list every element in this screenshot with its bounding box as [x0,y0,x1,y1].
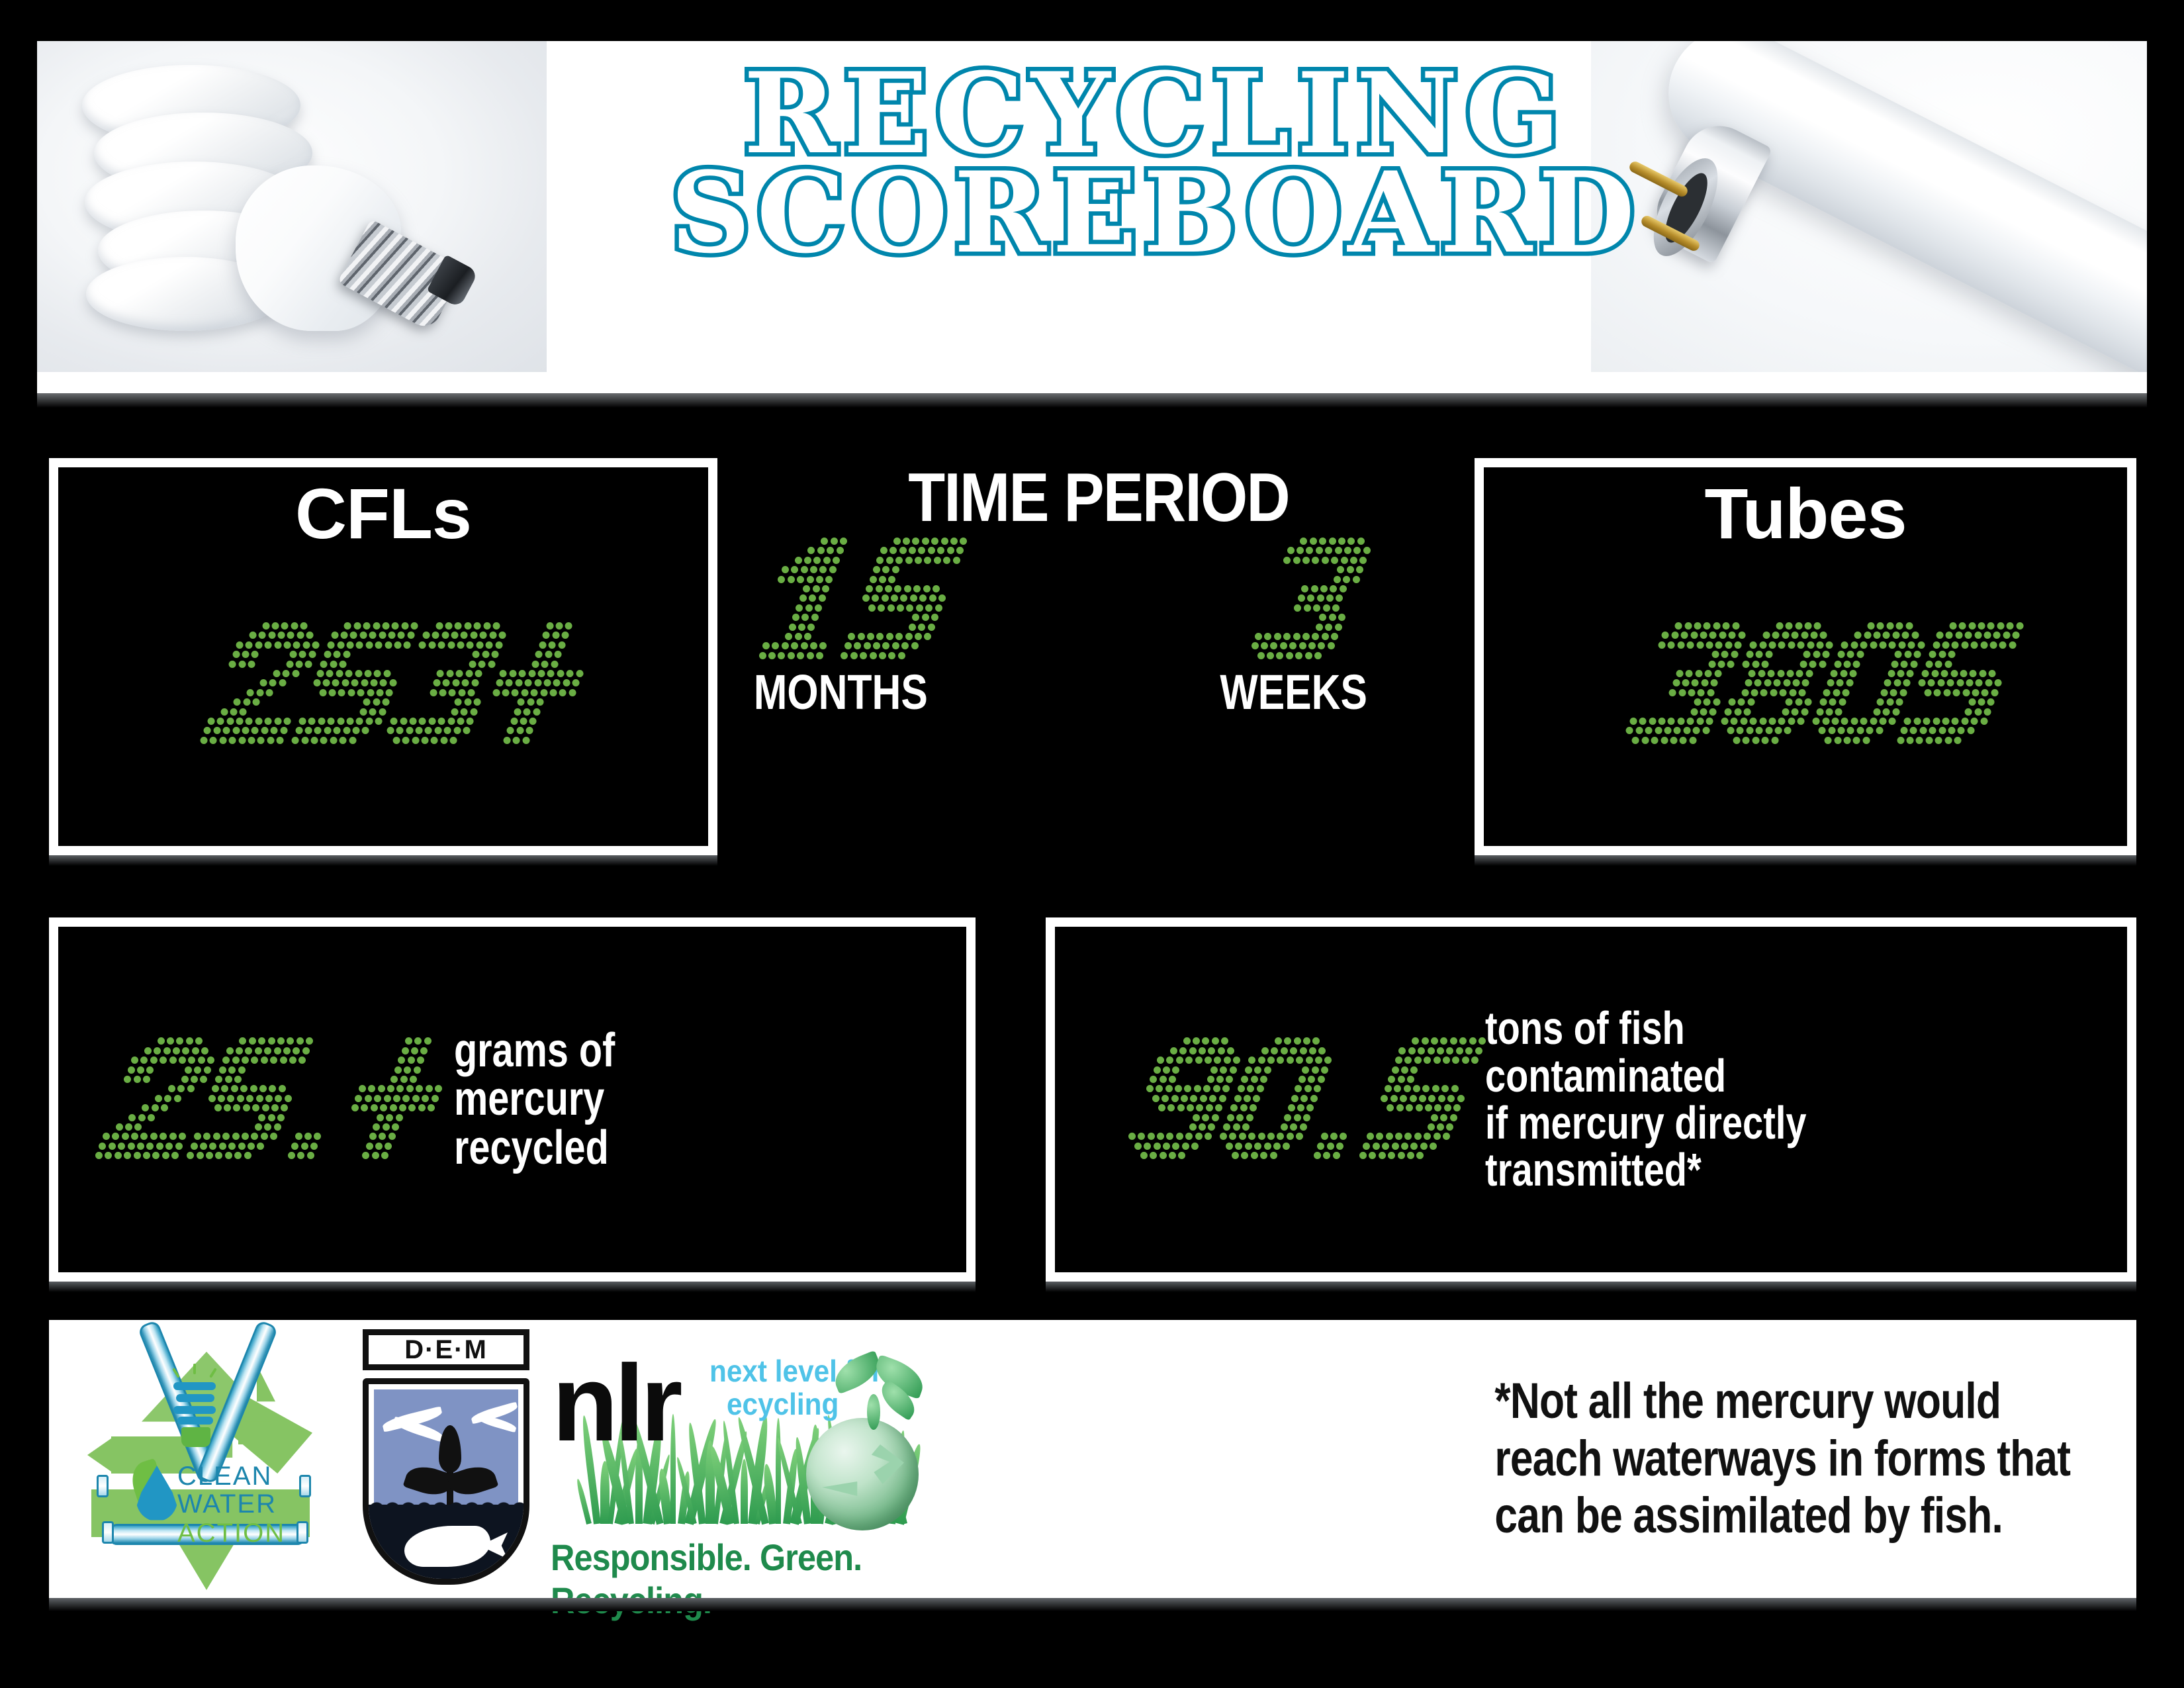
digit-5 [841,538,927,661]
sprout-icon [830,1356,929,1429]
panel-shadow [1475,855,2136,866]
dem-waterline [369,1495,523,1510]
digit-5 [1359,1037,1445,1161]
logo-row: CLEAN WATER ACTION D·E·M [68,1325,944,1590]
mercury-caption-line: mercury [454,1075,615,1123]
panel-tubes: Tubes [1475,458,2136,855]
dem-shield [363,1378,529,1585]
dem-banner-text: D·E·M [404,1335,488,1365]
panel-shadow [1046,1282,2136,1292]
footnote-text: *Not all the mercury would reach waterwa… [1494,1373,2081,1545]
digit-2 [201,622,287,746]
digit-3 [383,622,469,746]
mercury-caption: grams of mercury recycled [454,1027,615,1172]
fish-caption-line: transmitted* [1485,1147,1807,1194]
fish-caption: tons of fish contaminated if mercury dir… [1485,1005,1807,1194]
cwa-text-line: WATER [177,1489,277,1519]
digit-4 [334,1037,420,1161]
digit-3 [1248,538,1334,661]
digit-0 [1212,1037,1298,1161]
dem-banner: D·E·M [363,1329,529,1370]
panel-shadow [49,855,717,866]
fish-caption-line: if mercury directly [1485,1100,1807,1147]
panel-fish: tons of fish contaminated if mercury dir… [1046,917,2136,1282]
digit-8 [1714,622,1800,746]
months-value-display [749,538,932,661]
fish-caption-line: tons of fish [1485,1005,1807,1052]
nlr-logo: nlr next level for ecycling Responsible.… [547,1325,944,1590]
weeks-unit-label: WEEKS [1220,668,1367,717]
title-line-2: SCOREBOARD [619,163,1692,262]
digit-5 [187,1037,273,1161]
globe-icon [806,1418,919,1530]
time-period-block: TIME PERIOD MONTHS WEEKS [735,463,1463,861]
cwa-text-line: CLEAN [177,1462,272,1491]
clean-water-action-logo: CLEAN WATER ACTION [68,1325,345,1590]
footer-bar: CLEAN WATER ACTION D·E·M [49,1320,2136,1598]
mercury-caption-line: recycled [454,1124,615,1172]
panel-mercury: grams of mercury recycled [49,917,976,1282]
dem-logo: D·E·M [357,1325,535,1590]
mercury-value-display [95,1037,425,1161]
recycling-scoreboard: RECYCLING SCOREBOARD CFLs TIME PERIOD MO… [0,0,2184,1688]
compact-fluorescent-bulb-photo [37,41,547,372]
header-shadow [37,393,2147,408]
panel-tubes-label: Tubes [1484,478,2127,549]
months-unit-label: MONTHS [754,668,928,717]
time-period-heading: TIME PERIOD [778,463,1419,532]
digit-1 [749,538,835,661]
cwa-text-line: ACTION [177,1519,285,1548]
panel-cfls-label: CFLs [58,478,708,549]
time-period-entry-weeks: WEEKS [1204,538,1383,717]
digit-0 [1805,622,1891,746]
digit-9 [1121,1037,1207,1161]
digit-5 [292,622,378,746]
nlr-wordmark: nlr [552,1349,679,1458]
footer-shadow [49,1598,2136,1611]
panel-shadow [49,1282,976,1292]
fish-value-display [1121,1037,1451,1161]
header-banner: RECYCLING SCOREBOARD [37,41,2147,393]
weeks-value-display [1248,538,1339,661]
mercury-caption-line: grams of [454,1027,615,1075]
panel-cfls: CFLs [49,458,717,855]
nlr-tagline-line: ecycling [727,1389,839,1420]
page-title: RECYCLING SCOREBOARD [619,64,1692,262]
digit-2 [95,1037,181,1161]
fish-caption-line: contaminated [1485,1053,1807,1100]
time-period-entry-months: MONTHS [735,538,947,717]
cfls-value-display [201,622,567,746]
cfl-bulb-icon [164,1370,228,1450]
tubes-value-display [1623,622,1989,746]
digit-3 [1623,622,1709,746]
digit-4 [475,622,561,746]
digit-5 [1897,622,1983,746]
